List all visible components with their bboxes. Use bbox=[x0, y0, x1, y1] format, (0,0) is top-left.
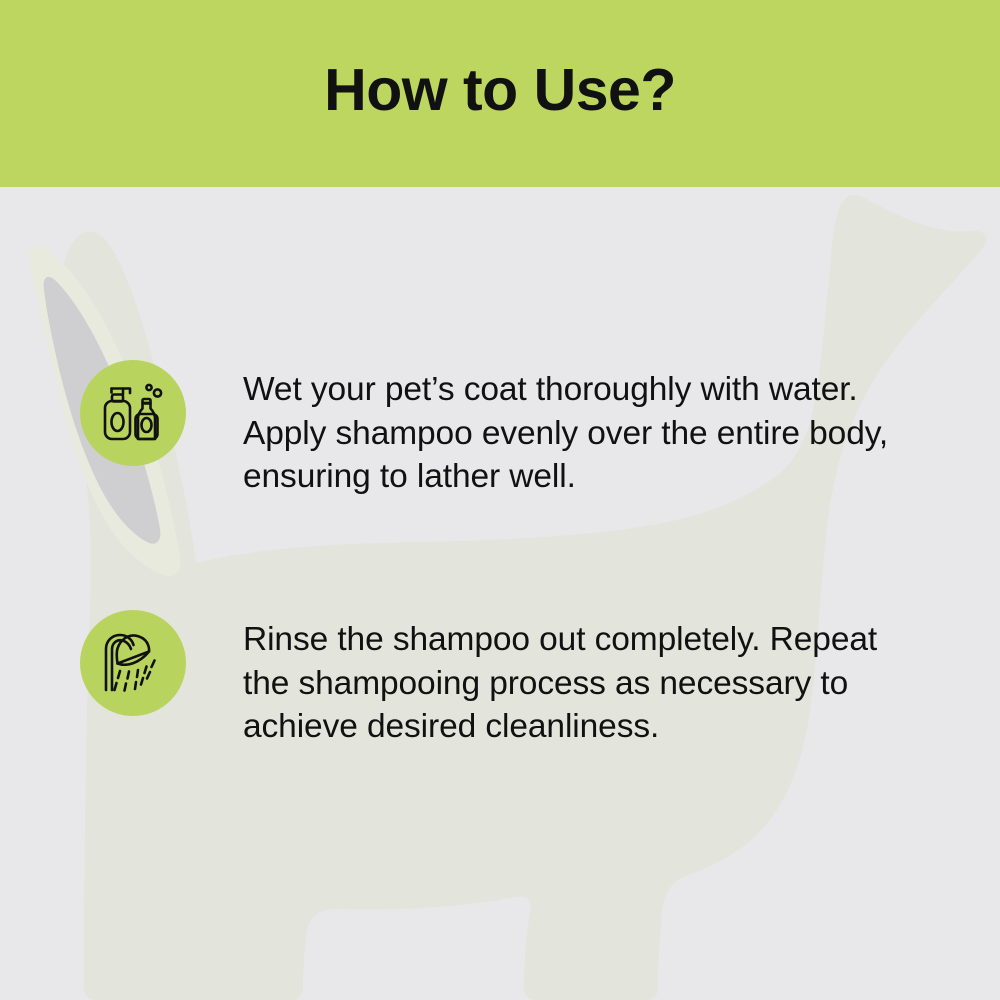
shampoo-bottles-icon bbox=[97, 377, 169, 449]
shower-head-icon bbox=[97, 627, 169, 699]
page-title: How to Use? bbox=[324, 61, 676, 126]
shower-head-icon-badge bbox=[80, 610, 186, 716]
step-item: Rinse the shampoo out completely. Repeat… bbox=[80, 610, 960, 749]
step-item: Wet your pet’s coat thoroughly with wate… bbox=[80, 360, 960, 499]
steps-list: Wet your pet’s coat thoroughly with wate… bbox=[0, 187, 1000, 1000]
shampoo-bottles-icon-badge bbox=[80, 360, 186, 466]
how-to-use-card: How to Use? bbox=[0, 0, 1000, 1000]
step-description: Rinse the shampoo out completely. Repeat… bbox=[243, 610, 911, 749]
step-description: Wet your pet’s coat thoroughly with wate… bbox=[243, 360, 911, 499]
header-band: How to Use? bbox=[0, 0, 1000, 187]
